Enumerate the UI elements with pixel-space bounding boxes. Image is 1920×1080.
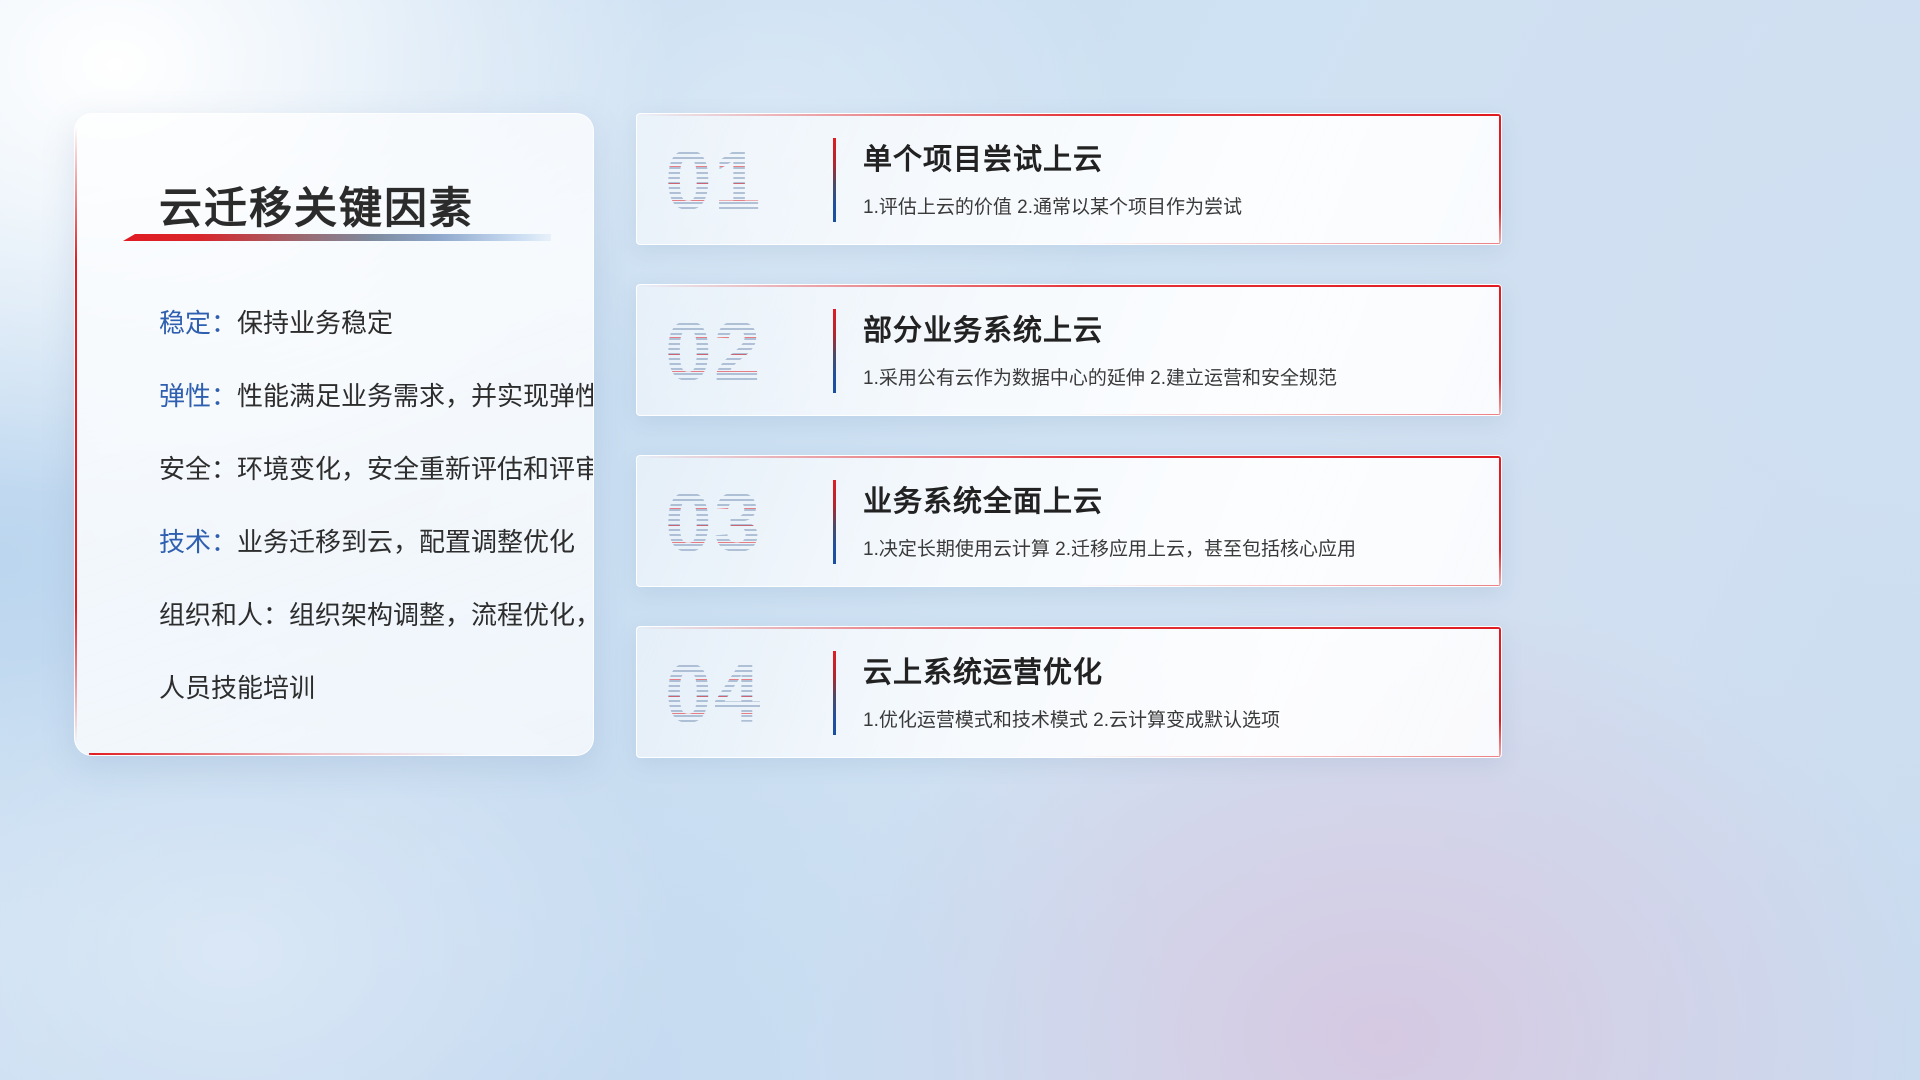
list-item: 安全：环境变化，安全重新评估和评审: [159, 456, 565, 482]
step-divider-bar: [833, 309, 836, 393]
step-divider-bar: [833, 138, 836, 222]
title-underline-gradient: [123, 234, 551, 241]
list-item-label: 稳定：: [159, 308, 237, 338]
step-number-watermark: 02: [665, 303, 815, 399]
step-card-02[interactable]: 02 02 部分业务系统上云 1.采用公有云作为数据中心的延伸 2.建立运营和安…: [636, 284, 1502, 416]
card-bottom-accent-line: [1069, 243, 1501, 244]
step-subtitle: 1.决定长期使用云计算 2.迁移应用上云，甚至包括核心应用: [863, 534, 1356, 561]
key-factors-list: 稳定：保持业务稳定 弹性：性能满足业务需求，并实现弹性 安全：环境变化，安全重新…: [159, 310, 565, 748]
key-factors-card: 云迁移关键因素 稳定：保持业务稳定 弹性：性能满足业务需求，并实现弹性 安全：环…: [74, 113, 594, 756]
list-item-label: 弹性：: [159, 381, 237, 411]
step-divider-bar: [833, 480, 836, 564]
card-left-accent-bar: [75, 126, 77, 743]
card-bottom-accent-line: [1069, 585, 1501, 586]
list-item-text: 人员技能培训: [159, 673, 315, 703]
list-item-text: 组织架构调整，流程优化，: [289, 600, 594, 630]
list-item-label: 组织和人：: [159, 600, 289, 630]
list-item-text: 业务迁移到云，配置调整优化: [237, 527, 575, 557]
card-right-accent-line: [1499, 285, 1501, 415]
step-subtitle: 1.采用公有云作为数据中心的延伸 2.建立运营和安全规范: [863, 363, 1337, 390]
step-card-01[interactable]: 01 01 单个项目尝试上云 1.评估上云的价值 2.通常以某个项目作为尝试: [636, 113, 1502, 245]
step-title: 单个项目尝试上云: [863, 136, 1103, 178]
card-top-accent-line: [637, 114, 1501, 116]
step-card-03[interactable]: 03 03 业务系统全面上云 1.决定长期使用云计算 2.迁移应用上云，甚至包括…: [636, 455, 1502, 587]
list-item-label: 安全：: [159, 454, 237, 484]
step-subtitle: 1.优化运营模式和技术模式 2.云计算变成默认选项: [863, 705, 1280, 732]
list-item-text: 保持业务稳定: [237, 308, 393, 338]
card-bottom-accent-line: [1069, 414, 1501, 415]
step-number-watermark: 01: [665, 132, 815, 228]
step-number-watermark: 04: [665, 645, 815, 741]
list-item: 技术：业务迁移到云，配置调整优化: [159, 529, 565, 555]
step-divider-bar: [833, 651, 836, 735]
card-top-accent-line: [637, 456, 1501, 458]
card-bottom-accent-line: [1069, 756, 1501, 757]
step-subtitle: 1.评估上云的价值 2.通常以某个项目作为尝试: [863, 192, 1242, 219]
step-number-watermark: 03: [665, 474, 815, 570]
step-card-04[interactable]: 04 04 云上系统运营优化 1.优化运营模式和技术模式 2.云计算变成默认选项: [636, 626, 1502, 758]
list-item: 弹性：性能满足业务需求，并实现弹性: [159, 383, 565, 409]
step-title: 部分业务系统上云: [863, 307, 1103, 349]
card-bottom-accent-bar: [89, 753, 473, 755]
page-title: 云迁移关键因素: [159, 174, 474, 236]
card-top-accent-line: [637, 285, 1501, 287]
list-item: 组织和人：组织架构调整，流程优化，: [159, 602, 565, 628]
list-item-text: 性能满足业务需求，并实现弹性: [237, 381, 594, 411]
step-title: 云上系统运营优化: [863, 649, 1103, 691]
list-item-label: 技术：: [159, 527, 237, 557]
card-top-accent-line: [637, 627, 1501, 629]
step-title: 业务系统全面上云: [863, 478, 1103, 520]
card-right-accent-line: [1499, 456, 1501, 586]
card-right-accent-line: [1499, 627, 1501, 757]
card-right-accent-line: [1499, 114, 1501, 244]
list-item: 人员技能培训: [159, 675, 565, 701]
list-item: 稳定：保持业务稳定: [159, 310, 565, 336]
list-item-text: 环境变化，安全重新评估和评审: [237, 454, 594, 484]
